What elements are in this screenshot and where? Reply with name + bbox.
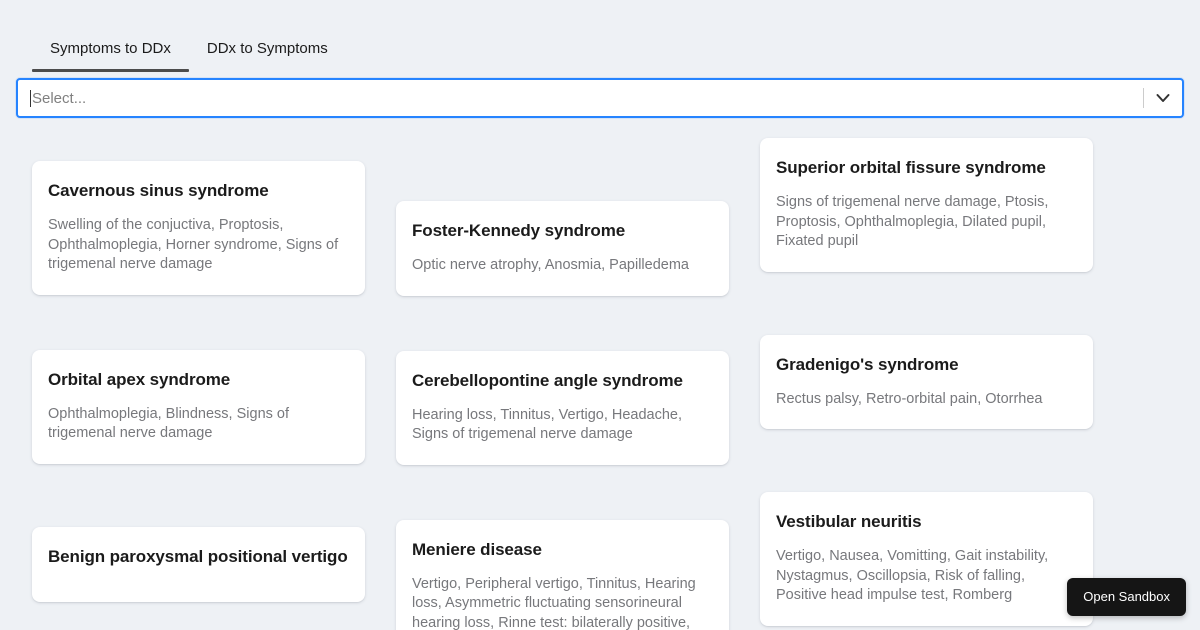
results-column-3: Superior orbital fissure syndrome Signs … xyxy=(760,128,1093,630)
card-title: Meniere disease xyxy=(412,538,713,561)
card-symptoms: Vertigo, Peripheral vertigo, Tinnitus, H… xyxy=(412,575,713,630)
text-cursor xyxy=(30,90,31,107)
select-value-area[interactable]: Select... xyxy=(18,90,1143,107)
tab-ddx-to-symptoms[interactable]: DDx to Symptoms xyxy=(189,40,346,72)
tab-bar: Symptoms to DDx DDx to Symptoms xyxy=(0,0,1200,72)
card-title: Orbital apex syndrome xyxy=(48,368,349,391)
card-symptoms: Ophthalmoplegia, Blindness, Signs of tri… xyxy=(48,405,349,444)
result-card[interactable]: Superior orbital fissure syndrome Signs … xyxy=(760,138,1093,272)
card-title: Cavernous sinus syndrome xyxy=(48,179,349,202)
card-title: Superior orbital fissure syndrome xyxy=(776,156,1077,179)
tab-symptoms-to-ddx[interactable]: Symptoms to DDx xyxy=(32,40,189,72)
card-symptoms: Vertigo, Nausea, Vomitting, Gait instabi… xyxy=(776,547,1077,606)
open-sandbox-label: Open Sandbox xyxy=(1083,589,1170,604)
result-card[interactable]: Gradenigo's syndrome Rectus palsy, Retro… xyxy=(760,335,1093,430)
chevron-down-icon[interactable] xyxy=(1144,79,1182,117)
select-placeholder: Select... xyxy=(32,90,86,107)
result-card[interactable]: Foster-Kennedy syndrome Optic nerve atro… xyxy=(396,201,729,296)
card-symptoms: Swelling of the conjuctiva, Proptosis, O… xyxy=(48,216,349,275)
tab-label: Symptoms to DDx xyxy=(50,40,171,57)
result-card[interactable]: Vestibular neuritis Vertigo, Nausea, Vom… xyxy=(760,492,1093,626)
card-symptoms: Rectus palsy, Retro-orbital pain, Otorrh… xyxy=(776,390,1077,410)
card-symptoms: Hearing loss, Tinnitus, Vertigo, Headach… xyxy=(412,406,713,445)
result-card[interactable]: Cavernous sinus syndrome Swelling of the… xyxy=(32,161,365,295)
card-title: Cerebellopontine angle syndrome xyxy=(412,369,713,392)
results-column-2: Foster-Kennedy syndrome Optic nerve atro… xyxy=(396,128,729,630)
card-title: Foster-Kennedy syndrome xyxy=(412,219,713,242)
result-card[interactable]: Benign paroxysmal positional vertigo xyxy=(32,527,365,602)
results-grid: Cavernous sinus syndrome Swelling of the… xyxy=(16,128,1184,630)
results-column-1: Cavernous sinus syndrome Swelling of the… xyxy=(32,128,365,630)
card-symptoms: Signs of trigemenal nerve damage, Ptosis… xyxy=(776,193,1077,252)
card-symptoms: Optic nerve atrophy, Anosmia, Papilledem… xyxy=(412,256,713,276)
result-card[interactable]: Orbital apex syndrome Ophthalmoplegia, B… xyxy=(32,350,365,464)
symptom-select[interactable]: Select... xyxy=(16,78,1184,118)
tab-label: DDx to Symptoms xyxy=(207,40,328,57)
card-title: Vestibular neuritis xyxy=(776,510,1077,533)
card-title: Gradenigo's syndrome xyxy=(776,353,1077,376)
app-root: Symptoms to DDx DDx to Symptoms Select..… xyxy=(0,0,1200,630)
result-card[interactable]: Meniere disease Vertigo, Peripheral vert… xyxy=(396,520,729,630)
open-sandbox-button[interactable]: Open Sandbox xyxy=(1067,578,1186,616)
result-card[interactable]: Cerebellopontine angle syndrome Hearing … xyxy=(396,351,729,465)
card-title: Benign paroxysmal positional vertigo xyxy=(48,545,349,568)
